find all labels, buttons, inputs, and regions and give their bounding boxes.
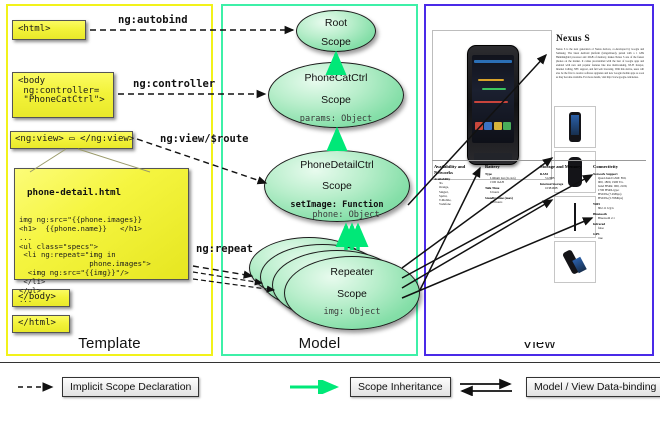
- spec-value: 6 hours: [485, 190, 533, 194]
- legend-label-scope-inheritance: Scope Inheritance: [350, 377, 451, 397]
- label-ng-autobind: ng:autobind: [118, 14, 188, 26]
- phone-detail-filename: phone-detail.html: [19, 187, 185, 200]
- spec-value: 1500 mAH: [485, 180, 533, 184]
- scope-phonedetailctrl-prop-phone: phone: Object: [265, 210, 409, 220]
- spec-value: 802.11 b/g/n: [593, 206, 645, 210]
- scope-root-title-1: Root: [297, 11, 375, 30]
- spec-column: Availability and Networks Availability 3…: [434, 164, 482, 206]
- legend-label-implicit-scope: Implicit Scope Declaration: [62, 377, 199, 397]
- diagram-canvas: Template Model View <html> <body ng:cont…: [0, 0, 660, 420]
- phone-detail-code: img ng:src="{{phone.images}} <h1> {{phon…: [19, 216, 185, 305]
- screen-line-1: [478, 79, 504, 81]
- spec-column: Connectivity Network Support Quad-band G…: [593, 164, 645, 240]
- spec-value: Bluetooth 2.1: [593, 216, 645, 220]
- screen-line-2: [482, 88, 506, 90]
- spec-value: false: [593, 226, 645, 230]
- screen-search-bar: [474, 60, 512, 63]
- scope-phonecatctrl: PhoneCatCtrl Scope params: Object: [268, 62, 404, 128]
- thumbnail-image[interactable]: [554, 106, 596, 148]
- scope-phonedetailctrl-title-2: Scope: [265, 172, 409, 193]
- spec-column: Battery Type Lithium Ion (Li-Ion) 1500 m…: [485, 164, 533, 204]
- scope-phonecatctrl-prop-params: params: Object: [269, 114, 403, 124]
- label-ng-controller: ng:controller: [133, 78, 215, 90]
- legend-dashed-arrow-icon: [18, 380, 60, 394]
- scope-phonecatctrl-title-2: Scope: [269, 85, 403, 107]
- code-tag-ngview: <ng:view> ▭ </ng:view>: [10, 131, 133, 149]
- spec-value: HSUPA (5.76Mbps): [593, 196, 645, 200]
- product-title: Nexus S: [556, 34, 590, 44]
- scope-repeater-prop-img: img: Object: [285, 307, 419, 317]
- legend-double-arrow-icon: [460, 378, 522, 396]
- screen-app-icons: [475, 122, 511, 131]
- spec-header: Availability and Networks: [434, 164, 482, 175]
- spec-value: 428 hours: [485, 200, 533, 204]
- scope-root: Root Scope: [296, 10, 376, 52]
- code-block-phone-detail: phone-detail.html img ng:src="{{phone.im…: [14, 168, 189, 280]
- column-label-model: Model: [223, 335, 416, 352]
- spec-header: Storage and Memory: [540, 164, 588, 170]
- label-ng-view-route: ng:view/$route: [160, 133, 249, 145]
- spec-value: 16384MB: [540, 186, 588, 190]
- scope-root-title-2: Scope: [297, 30, 375, 49]
- column-label-template: Template: [8, 335, 211, 352]
- legend-label-data-binding: Model / View Data-binding: [526, 377, 660, 397]
- view-rendered-page: Nexus S Nexus S is the next generation o…: [432, 12, 646, 342]
- spec-header: Battery: [485, 164, 533, 170]
- legend: Implicit Scope Declaration Scope Inherit…: [0, 362, 660, 421]
- spec-value: 512MB: [540, 176, 588, 180]
- scope-repeater-title-1: Repeater: [285, 257, 419, 279]
- product-description: Nexus S is the next generation of Nexus …: [556, 48, 644, 100]
- code-tag-body: <body ng:controller= "PhoneCatCtrl">: [12, 72, 114, 118]
- scope-phonedetailctrl-prop-setimage: setImage: Function: [265, 200, 409, 210]
- scope-phonecatctrl-title-1: PhoneCatCtrl: [269, 63, 403, 85]
- spec-column: Storage and Memory RAM 512MB Internal St…: [540, 164, 588, 190]
- specs-table: Availability and Networks Availability 3…: [432, 160, 646, 279]
- spec-header: Connectivity: [593, 164, 645, 170]
- label-ng-repeat: ng:repeat: [196, 243, 253, 255]
- scope-phonedetailctrl: PhoneDetailCtrl Scope setImage: Function…: [264, 150, 410, 222]
- phone-device-illustration: [467, 45, 519, 165]
- spec-value: Vodafone: [434, 202, 482, 206]
- legend-green-arrow-icon: [290, 380, 348, 394]
- scope-phonedetailctrl-title-1: PhoneDetailCtrl: [265, 151, 409, 172]
- code-tag-html: <html>: [12, 20, 86, 40]
- scope-repeater-title-2: Scope: [285, 279, 419, 301]
- spec-value: true: [593, 236, 645, 240]
- scope-repeater: Repeater Scope img: Object: [284, 256, 420, 330]
- screen-line-3: [474, 101, 508, 103]
- phone-hero-image-frame: [432, 30, 552, 180]
- phone-screen: [472, 55, 514, 143]
